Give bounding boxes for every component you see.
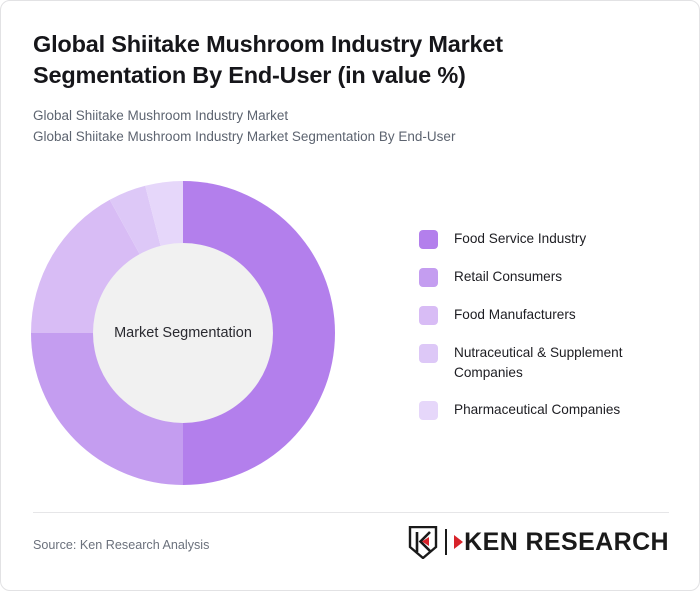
donut-chart: Market Segmentation	[31, 181, 335, 485]
legend-label: Retail Consumers	[454, 267, 562, 287]
chart-area: Market Segmentation Food Service Industr…	[1, 167, 700, 497]
legend-label: Pharmaceutical Companies	[454, 400, 620, 420]
legend-item[interactable]: Nutraceutical & Supplement Companies	[419, 343, 681, 382]
chart-header: Global Shiitake Mushroom Industry Market…	[33, 29, 653, 147]
legend-label: Nutraceutical & Supplement Companies	[454, 343, 681, 382]
legend-swatch-icon	[419, 344, 438, 363]
logo-wordmark-text: KEN RESEARCH	[464, 528, 669, 557]
subtitle-line-1: Global Shiitake Mushroom Industry Market	[33, 106, 653, 127]
legend-swatch-icon	[419, 268, 438, 287]
legend-swatch-icon	[419, 306, 438, 325]
footer-divider	[33, 512, 669, 513]
legend-item[interactable]: Pharmaceutical Companies	[419, 400, 681, 420]
legend-label: Food Manufacturers	[454, 305, 576, 325]
logo-wordmark: KEN RESEARCH	[454, 528, 669, 557]
ken-research-shield-icon	[408, 526, 438, 559]
source-note: Source: Ken Research Analysis	[33, 538, 209, 552]
subtitle-line-2: Global Shiitake Mushroom Industry Market…	[33, 127, 653, 148]
subtitle-group: Global Shiitake Mushroom Industry Market…	[33, 106, 653, 147]
donut-hole	[93, 243, 273, 423]
ken-research-logo: KEN RESEARCH	[408, 525, 669, 559]
legend-swatch-icon	[419, 401, 438, 420]
legend-item[interactable]: Retail Consumers	[419, 267, 681, 287]
legend-swatch-icon	[419, 230, 438, 249]
legend-label: Food Service Industry	[454, 229, 586, 249]
chart-legend: Food Service IndustryRetail ConsumersFoo…	[419, 229, 681, 420]
logo-caret-icon	[454, 535, 463, 549]
page-title: Global Shiitake Mushroom Industry Market…	[33, 29, 653, 91]
legend-item[interactable]: Food Manufacturers	[419, 305, 681, 325]
logo-divider	[445, 529, 447, 555]
donut-svg	[31, 181, 335, 485]
chart-card: Global Shiitake Mushroom Industry Market…	[0, 0, 700, 591]
legend-item[interactable]: Food Service Industry	[419, 229, 681, 249]
